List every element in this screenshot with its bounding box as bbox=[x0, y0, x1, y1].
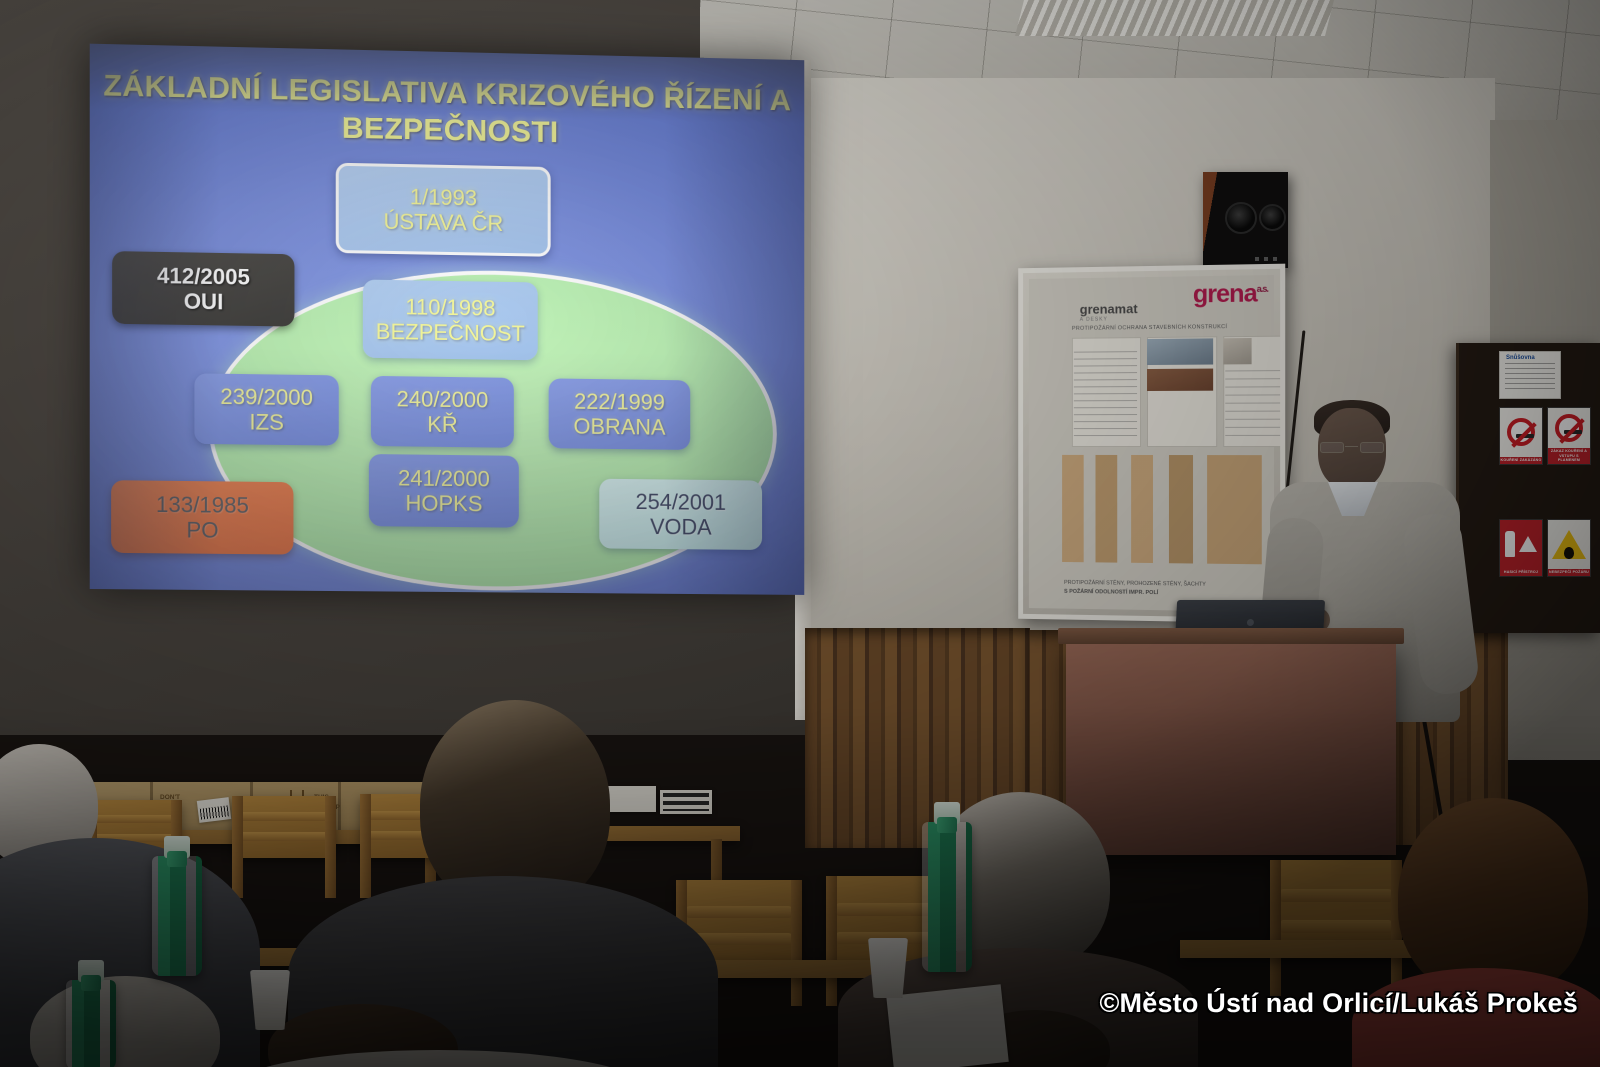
plastic-cup-2 bbox=[868, 938, 908, 998]
node-bezpecnost: 110/1998 BEZPEČNOST bbox=[363, 280, 538, 361]
node-kr-label: KŘ bbox=[427, 412, 458, 437]
node-ustava: 1/1993 ÚSTAVA ČR bbox=[336, 163, 551, 257]
warning-triangle-icon bbox=[1552, 530, 1586, 559]
node-bezpecnost-label: BEZPEČNOST bbox=[376, 319, 525, 346]
grena-logo-text: grena bbox=[1193, 279, 1257, 308]
node-oui: 412/2005 OUI bbox=[112, 251, 294, 326]
fire-extinguisher-icon bbox=[1500, 520, 1542, 569]
no-open-flame-icon bbox=[1548, 408, 1590, 448]
node-izs: 239/2000 IZS bbox=[194, 373, 338, 445]
node-ustava-label: ÚSTAVA ČR bbox=[384, 209, 504, 236]
node-kr: 240/2000 KŘ bbox=[371, 376, 514, 448]
poster-footer-line-2: S POŽÁRNÍ ODOLNOSTÍ IMPR. POLÍ bbox=[1064, 589, 1266, 598]
node-hopks-label: HOPKS bbox=[405, 491, 482, 517]
node-izs-label: IZS bbox=[249, 409, 284, 435]
speaker-driver-large bbox=[1225, 202, 1257, 234]
node-hopks: 241/2000 HOPKS bbox=[369, 454, 519, 528]
paper-sheet-b bbox=[660, 790, 712, 814]
node-ustava-number: 1/1993 bbox=[410, 184, 477, 210]
cigarette-icon bbox=[1516, 434, 1534, 438]
grena-logo-sup: a.s. bbox=[1257, 284, 1268, 294]
sign-flammable-caption: NEBEZPEČÍ POŽÁRU bbox=[1548, 569, 1590, 576]
water-bottle-2 bbox=[66, 980, 116, 1067]
bottle-neck bbox=[937, 817, 957, 833]
poster-surface: grenaa.s. grenamat A DESKY PROTIPOŽÁRNÍ … bbox=[1029, 275, 1274, 612]
slide-canvas: ZÁKLADNÍ LEGISLATIVA KRIZOVÉHO ŘÍZENÍ A … bbox=[90, 44, 805, 595]
node-po: 133/1985 PO bbox=[111, 480, 293, 554]
sign-no-smoking-flame: ZÁKAZ KOUŘENÍ A VSTUPU S PLAMENEM bbox=[1547, 407, 1591, 465]
ceiling-vent bbox=[1015, 0, 1335, 36]
copyright-watermark: ©Město Ústí nad Orlicí/Lukáš Prokeš bbox=[1099, 988, 1578, 1019]
safety-sign-board: Snůšovna KOUŘENÍ ZAKÁZÁNO ZÁKAZ KOUŘENÍ … bbox=[1456, 343, 1600, 633]
speaker-driver-small bbox=[1259, 204, 1286, 231]
node-voda-label: VODA bbox=[650, 514, 712, 540]
node-voda-number: 254/2001 bbox=[636, 489, 727, 515]
sign-flammable: NEBEZPEČÍ POŽÁRU bbox=[1547, 519, 1591, 577]
plastic-cup-1 bbox=[250, 970, 290, 1030]
no-smoking-icon bbox=[1500, 408, 1542, 457]
prohibition-ring-icon bbox=[1507, 418, 1535, 446]
wall-speaker-icon bbox=[1203, 172, 1288, 268]
node-hopks-number: 241/2000 bbox=[398, 465, 490, 491]
prohibition-ring-icon bbox=[1555, 414, 1583, 442]
node-voda: 254/2001 VODA bbox=[599, 479, 762, 550]
poster-footer-line-1: PROTIPOŽÁRNÍ STĚNY, PROHOZENÉ STĚNY, ŠAC… bbox=[1064, 580, 1206, 588]
grenamat-subtext: A DESKY bbox=[1080, 316, 1138, 323]
poster-wood-samples-image bbox=[1062, 455, 1262, 564]
slide-title: ZÁKLADNÍ LEGISLATIVA KRIZOVÉHO ŘÍZENÍ A … bbox=[90, 68, 805, 157]
match-icon bbox=[1564, 430, 1582, 434]
poster-photo-1 bbox=[1147, 338, 1213, 365]
poster-headline: PROTIPOŽÁRNÍ OCHRANA STAVEBNÍCH KONSTRUK… bbox=[1072, 324, 1264, 332]
sign-no-smoking-flame-caption: ZÁKAZ KOUŘENÍ A VSTUPU S PLAMENEM bbox=[1548, 448, 1590, 464]
node-obrana-label: OBRANA bbox=[574, 414, 666, 440]
sign-no-smoking: KOUŘENÍ ZAKÁZÁNO bbox=[1499, 407, 1543, 465]
grenamat-text: grenamat bbox=[1080, 301, 1138, 317]
grenamat-wordmark: grenamat A DESKY bbox=[1080, 301, 1138, 323]
poster-text-block-1 bbox=[1074, 351, 1137, 441]
flame-icon bbox=[1519, 536, 1537, 552]
node-oui-number: 412/2005 bbox=[157, 263, 250, 290]
photo-scene: ZÁKLADNÍ LEGISLATIVA KRIZOVÉHO ŘÍZENÍ A … bbox=[0, 0, 1600, 1067]
notice-placard-logo: Snůšovna bbox=[1500, 352, 1560, 361]
slide-title-line-1: ZÁKLADNÍ LEGISLATIVA bbox=[103, 69, 466, 110]
node-oui-label: OUI bbox=[184, 289, 224, 315]
poster-board: grenaa.s. grenamat A DESKY PROTIPOŽÁRNÍ … bbox=[1018, 264, 1285, 624]
extinguisher-body-icon bbox=[1505, 531, 1515, 557]
speaker-led-strip bbox=[1255, 257, 1281, 261]
poster-photo-2 bbox=[1147, 369, 1213, 391]
sign-fire-extinguisher: HASICÍ PŘÍSTROJ bbox=[1499, 519, 1543, 577]
bottle-neck bbox=[81, 975, 101, 991]
node-izs-number: 239/2000 bbox=[220, 384, 313, 410]
handout-paper bbox=[886, 984, 1009, 1067]
poster-footer: PROTIPOŽÁRNÍ STĚNY, PROHOZENÉ STĚNY, ŠAC… bbox=[1064, 580, 1266, 598]
water-bottle-1 bbox=[152, 856, 202, 976]
water-bottle-3 bbox=[922, 822, 972, 972]
grena-logo: grenaa.s. bbox=[1193, 279, 1268, 309]
flammable-warning-icon bbox=[1548, 520, 1590, 569]
node-po-label: PO bbox=[186, 517, 218, 543]
podium-top-surface bbox=[1058, 628, 1404, 644]
barcode-label bbox=[197, 797, 231, 823]
sign-no-smoking-caption: KOUŘENÍ ZAKÁZÁNO bbox=[1500, 457, 1542, 464]
notice-placard: Snůšovna bbox=[1499, 351, 1561, 399]
node-kr-number: 240/2000 bbox=[397, 386, 489, 412]
node-obrana: 222/1999 OBRANA bbox=[549, 378, 691, 450]
poster-photo-3 bbox=[1223, 338, 1251, 364]
node-po-number: 133/1985 bbox=[156, 492, 249, 518]
podium bbox=[1066, 640, 1396, 855]
projection-screen: ZÁKLADNÍ LEGISLATIVA KRIZOVÉHO ŘÍZENÍ A … bbox=[90, 44, 805, 595]
bottle-neck bbox=[167, 851, 187, 867]
notice-placard-text bbox=[1505, 363, 1555, 389]
glasses-icon bbox=[1320, 442, 1384, 453]
node-bezpecnost-number: 110/1998 bbox=[405, 294, 495, 321]
sign-fire-extinguisher-caption: HASICÍ PŘÍSTROJ bbox=[1500, 569, 1542, 576]
chair-back-2 bbox=[232, 796, 336, 858]
node-obrana-number: 222/1999 bbox=[574, 389, 665, 415]
